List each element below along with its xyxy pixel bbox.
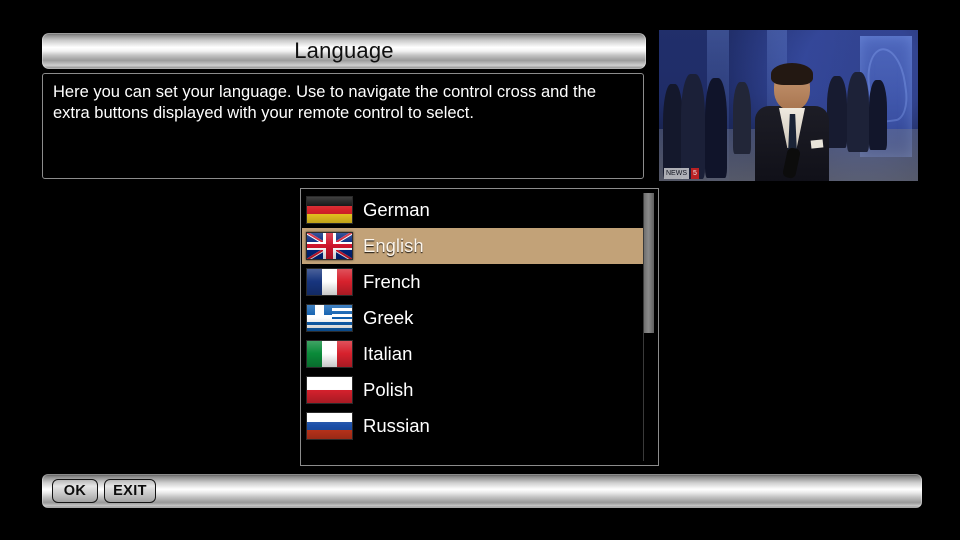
list-item-label: French xyxy=(363,271,421,293)
bottom-button-bar: OK EXIT xyxy=(42,474,922,508)
reporter-pocket-square xyxy=(811,139,824,148)
video-crowd-figure xyxy=(705,78,727,178)
description-text: Here you can set your language. Use to n… xyxy=(53,82,633,124)
video-crowd-figure xyxy=(827,76,847,148)
flag-france-icon xyxy=(306,268,353,296)
broadcaster-logo-badge: 5 xyxy=(691,168,699,179)
flag-greece-icon xyxy=(306,304,353,332)
reporter-hair xyxy=(771,63,813,85)
list-item-label: German xyxy=(363,199,430,221)
video-preview[interactable]: NEWS 5 xyxy=(659,30,918,181)
list-item-label: English xyxy=(363,235,424,257)
list-item[interactable]: French xyxy=(302,264,643,300)
flag-germany-icon xyxy=(306,196,353,224)
language-list-panel[interactable]: German English French xyxy=(300,188,659,466)
tv-osd-screen: Language Here you can set your language.… xyxy=(0,0,960,540)
broadcaster-logo-text: NEWS xyxy=(664,168,689,179)
description-panel: Here you can set your language. Use to n… xyxy=(42,73,644,179)
video-crowd-figure xyxy=(733,82,751,154)
broadcaster-logo: NEWS 5 xyxy=(664,168,699,179)
video-reporter xyxy=(755,66,829,181)
window-title-bar: Language xyxy=(42,33,646,69)
language-list: German English French xyxy=(302,192,643,444)
list-item-label: Italian xyxy=(363,343,412,365)
list-item[interactable]: Polish xyxy=(302,372,643,408)
video-crowd-figure xyxy=(869,80,887,150)
flag-russia-icon xyxy=(306,412,353,440)
ok-button[interactable]: OK xyxy=(52,479,98,503)
flag-united-kingdom-icon xyxy=(306,232,353,260)
video-crowd-figure xyxy=(847,72,869,152)
flag-poland-icon xyxy=(306,376,353,404)
list-item[interactable]: Russian xyxy=(302,408,643,444)
page-title: Language xyxy=(294,38,393,64)
video-crowd-figure xyxy=(681,74,705,179)
list-item[interactable]: Italian xyxy=(302,336,643,372)
scrollbar-thumb[interactable] xyxy=(644,193,654,333)
video-crowd-figure xyxy=(663,84,683,179)
list-item[interactable]: English xyxy=(302,228,643,264)
flag-italy-icon xyxy=(306,340,353,368)
list-item[interactable]: German xyxy=(302,192,643,228)
list-item-label: Greek xyxy=(363,307,413,329)
exit-button[interactable]: EXIT xyxy=(104,479,156,503)
list-item-label: Polish xyxy=(363,379,413,401)
list-item[interactable]: Greek xyxy=(302,300,643,336)
list-item-label: Russian xyxy=(363,415,430,437)
